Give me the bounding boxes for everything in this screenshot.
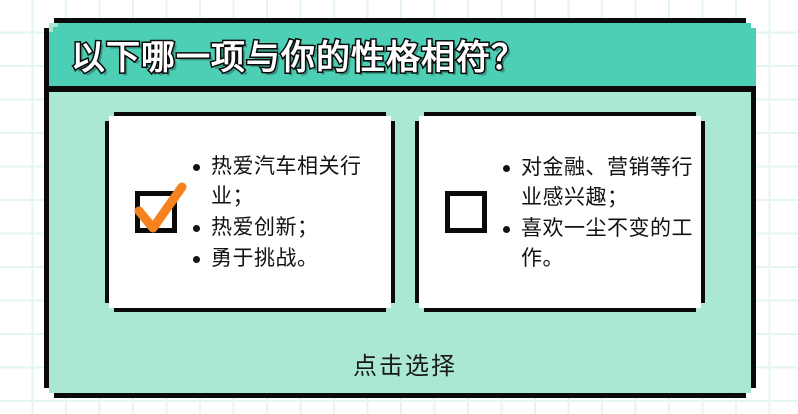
option-right-bullets: 对金融、营销等行业感兴趣； 喜欢一尘不变的工作。 (495, 151, 701, 274)
option-left-bullets: 热爱汽车相关行业； 热爱创新； 勇于挑战。 (185, 150, 391, 274)
list-item: 喜欢一尘不变的工作。 (501, 213, 693, 273)
list-item: 对金融、营销等行业感兴趣； (501, 152, 693, 212)
option-card-right[interactable]: 对金融、营销等行业感兴趣； 喜欢一尘不变的工作。 (415, 112, 705, 312)
quiz-panel: 以下哪一项与你的性格相符？ 热爱汽车相关行业； 热爱创新； 勇于挑战。 (44, 18, 756, 398)
page-title: 以下哪一项与你的性格相符？ (71, 30, 526, 79)
quiz-header: 以下哪一项与你的性格相符？ (49, 23, 761, 92)
click-to-select-hint: 点击选择 (49, 346, 761, 381)
checkbox-box-icon (135, 191, 177, 233)
checkbox-left[interactable] (127, 183, 185, 241)
checkbox-right[interactable] (437, 183, 495, 241)
list-item: 热爱创新； (191, 212, 383, 242)
option-card-left[interactable]: 热爱汽车相关行业； 热爱创新； 勇于挑战。 (105, 112, 395, 312)
checkbox-box-icon (445, 191, 487, 233)
list-item: 热爱汽车相关行业； (191, 151, 383, 211)
options-row: 热爱汽车相关行业； 热爱创新； 勇于挑战。 对金融、营销等行业感兴趣； 喜欢一尘… (49, 92, 761, 332)
list-item: 勇于挑战。 (191, 243, 383, 273)
screen: 以下哪一项与你的性格相符？ 热爱汽车相关行业； 热爱创新； 勇于挑战。 (0, 0, 798, 414)
